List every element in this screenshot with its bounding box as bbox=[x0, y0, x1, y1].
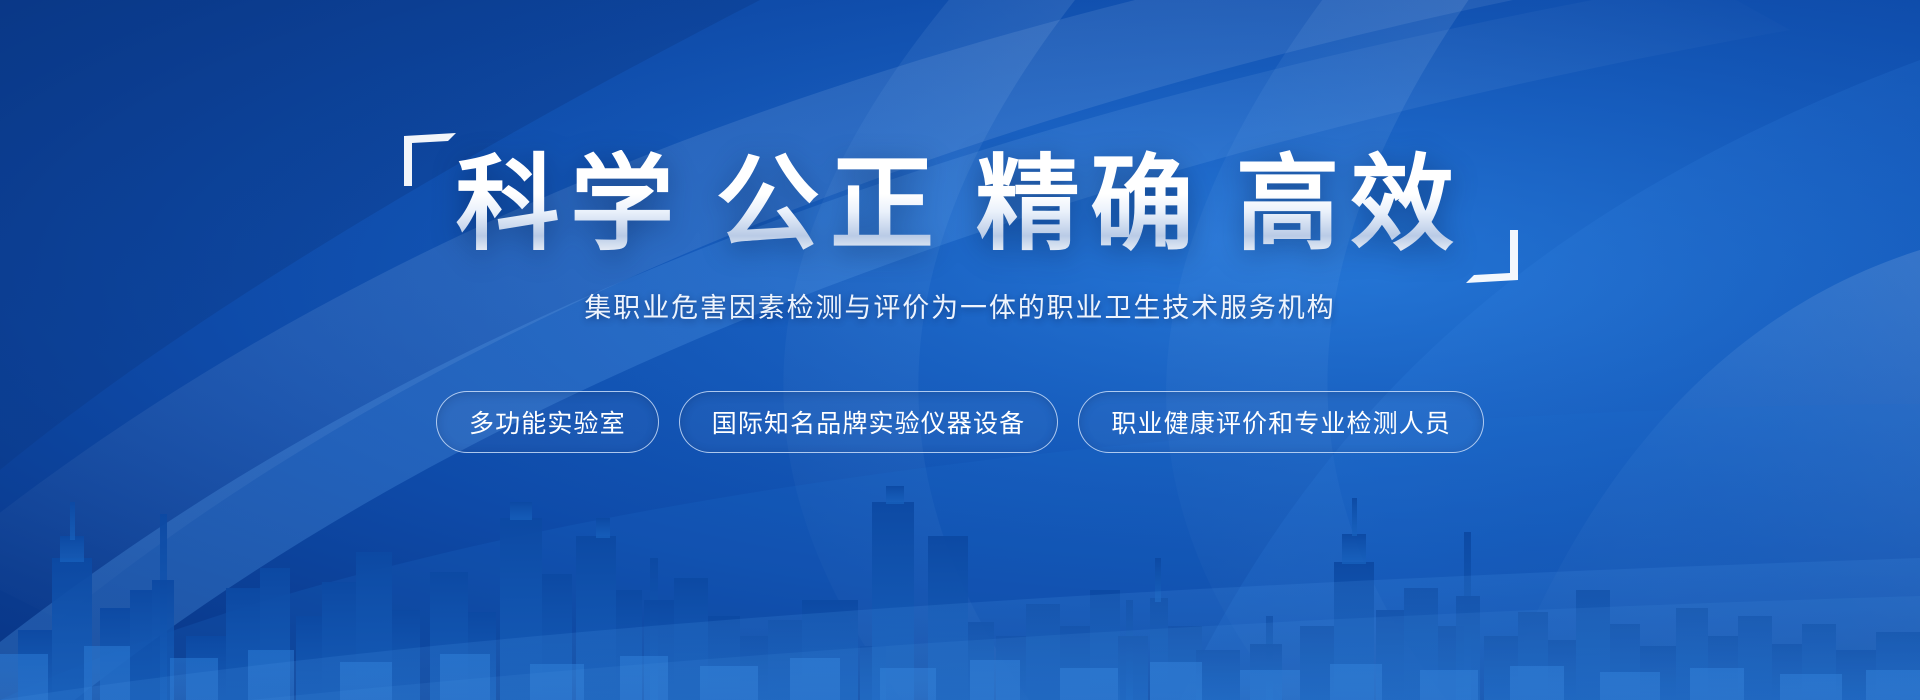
feature-tag-equipment[interactable]: 国际知名品牌实验仪器设备 bbox=[679, 391, 1059, 453]
hero-banner: 科学公正精确高效 集职业危害因素检测与评价为一体的职业卫生技术服务机构 多功能实… bbox=[0, 0, 1920, 700]
corner-bracket-top-left-icon bbox=[402, 132, 458, 188]
banner-subtitle: 集职业危害因素检测与评价为一体的职业卫生技术服务机构 bbox=[584, 286, 1335, 325]
feature-tag-lab[interactable]: 多功能实验室 bbox=[436, 391, 659, 453]
corner-bracket-bottom-right-icon bbox=[1464, 228, 1520, 284]
page-title: 科学公正精确高效 bbox=[456, 150, 1465, 260]
banner-content: 科学公正精确高效 集职业危害因素检测与评价为一体的职业卫生技术服务机构 多功能实… bbox=[0, 0, 1920, 700]
feature-tag-list: 多功能实验室 国际知名品牌实验仪器设备 职业健康评价和专业检测人员 bbox=[436, 391, 1484, 453]
feature-tag-staff[interactable]: 职业健康评价和专业检测人员 bbox=[1078, 391, 1484, 453]
headline-block: 科学公正精确高效 bbox=[410, 150, 1511, 260]
